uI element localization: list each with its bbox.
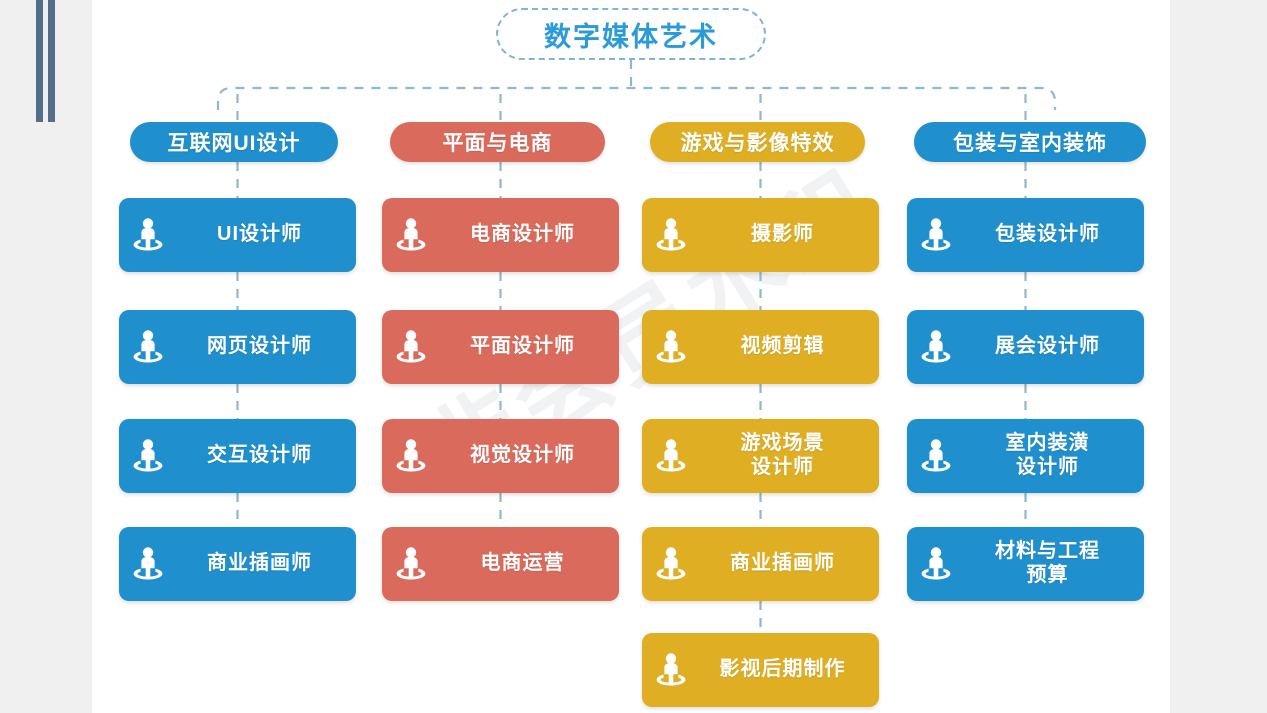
slide-stage: 非会员水印 数字媒体艺术 互联网UI设计UI设计师网页设计师交互设计师商业插画师… xyxy=(0,0,1267,713)
person-on-platform-icon xyxy=(907,327,965,367)
node-card[interactable]: 平面设计师 xyxy=(382,310,619,384)
root-node-title: 数字媒体艺术 xyxy=(496,8,766,60)
node-card[interactable]: 电商设计师 xyxy=(382,198,619,272)
decorative-bar-2 xyxy=(48,0,55,122)
node-card[interactable]: 室内装潢 设计师 xyxy=(907,419,1144,493)
node-card[interactable]: 材料与工程 预算 xyxy=(907,527,1144,601)
node-card[interactable]: 游戏场景 设计师 xyxy=(642,419,879,493)
node-label: 平面设计师 xyxy=(440,335,619,359)
person-on-platform-icon xyxy=(907,436,965,476)
node-label: 室内装潢 设计师 xyxy=(965,432,1144,479)
column-header-label: 平面与电商 xyxy=(443,127,553,157)
person-on-platform-icon xyxy=(642,544,700,584)
column-header-label: 包装与室内装饰 xyxy=(953,127,1107,157)
node-card[interactable]: 网页设计师 xyxy=(119,310,356,384)
left-decorative-bars xyxy=(30,0,64,122)
person-on-platform-icon xyxy=(382,436,440,476)
node-card[interactable]: 影视后期制作 xyxy=(642,633,879,707)
node-label: 展会设计师 xyxy=(965,335,1144,359)
person-on-platform-icon xyxy=(382,327,440,367)
node-label: 摄影师 xyxy=(700,223,879,247)
node-card[interactable]: 摄影师 xyxy=(642,198,879,272)
node-card[interactable]: 商业插画师 xyxy=(642,527,879,601)
person-on-platform-icon xyxy=(119,544,177,584)
node-card[interactable]: 交互设计师 xyxy=(119,419,356,493)
person-on-platform-icon xyxy=(642,436,700,476)
node-label: 包装设计师 xyxy=(965,223,1144,247)
node-label: 游戏场景 设计师 xyxy=(700,432,879,479)
node-label: 影视后期制作 xyxy=(700,658,879,682)
column-header-label: 互联网UI设计 xyxy=(168,127,301,157)
person-on-platform-icon xyxy=(382,544,440,584)
node-label: 交互设计师 xyxy=(177,444,356,468)
column-header-2[interactable]: 平面与电商 xyxy=(390,122,605,162)
column-header-label: 游戏与影像特效 xyxy=(681,127,835,157)
decorative-bar-1 xyxy=(36,0,43,122)
node-card[interactable]: UI设计师 xyxy=(119,198,356,272)
node-label: 材料与工程 预算 xyxy=(965,540,1144,587)
column-header-3[interactable]: 游戏与影像特效 xyxy=(650,122,865,162)
person-on-platform-icon xyxy=(907,215,965,255)
person-on-platform-icon xyxy=(907,544,965,584)
node-label: 商业插画师 xyxy=(700,552,879,576)
node-card[interactable]: 电商运营 xyxy=(382,527,619,601)
node-label: UI设计师 xyxy=(177,223,356,247)
node-label: 电商设计师 xyxy=(440,223,619,247)
person-on-platform-icon xyxy=(382,215,440,255)
node-card[interactable]: 视觉设计师 xyxy=(382,419,619,493)
person-on-platform-icon xyxy=(642,215,700,255)
person-on-platform-icon xyxy=(119,327,177,367)
column-header-1[interactable]: 互联网UI设计 xyxy=(130,122,338,162)
node-card[interactable]: 包装设计师 xyxy=(907,198,1144,272)
node-label: 商业插画师 xyxy=(177,552,356,576)
node-label: 视频剪辑 xyxy=(700,335,879,359)
column-header-4[interactable]: 包装与室内装饰 xyxy=(914,122,1146,162)
node-card[interactable]: 展会设计师 xyxy=(907,310,1144,384)
node-label: 网页设计师 xyxy=(177,335,356,359)
node-label: 电商运营 xyxy=(440,552,619,576)
person-on-platform-icon xyxy=(119,436,177,476)
person-on-platform-icon xyxy=(119,215,177,255)
node-card[interactable]: 商业插画师 xyxy=(119,527,356,601)
person-on-platform-icon xyxy=(642,327,700,367)
node-card[interactable]: 视频剪辑 xyxy=(642,310,879,384)
person-on-platform-icon xyxy=(642,650,700,690)
diagram-canvas: 非会员水印 数字媒体艺术 互联网UI设计UI设计师网页设计师交互设计师商业插画师… xyxy=(92,0,1170,713)
node-label: 视觉设计师 xyxy=(440,444,619,468)
